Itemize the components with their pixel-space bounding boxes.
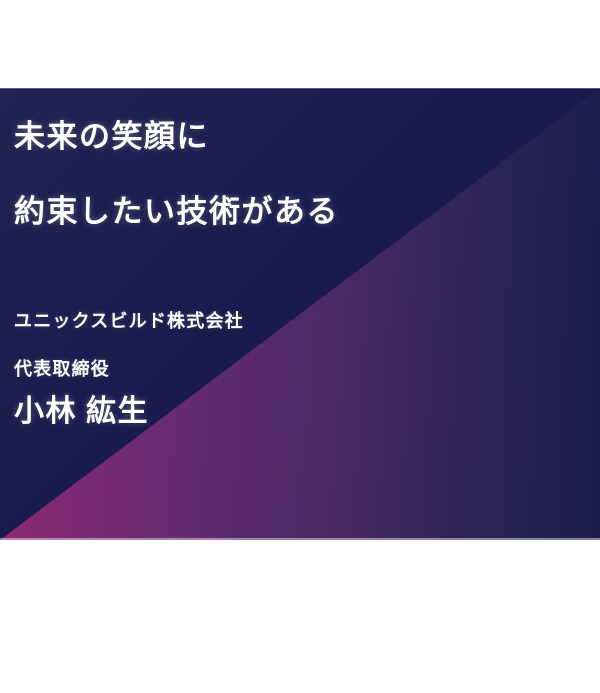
person-name: 小林 紘生 [14, 397, 149, 427]
hero-text-block: 未来の笑顔に 約束したい技術がある ユニックスビルド株式会社 代表取締役 小林 … [0, 88, 600, 540]
headline-line-2: 約束したい技術がある [14, 196, 339, 227]
job-title: 代表取締役 [14, 360, 110, 378]
page-margin-bottom [0, 540, 600, 693]
organization-name: ユニックスビルド株式会社 [14, 312, 244, 330]
slide-canvas: 未来の笑顔に 約束したい技術がある ユニックスビルド株式会社 代表取締役 小林 … [0, 0, 600, 693]
hero-banner: 未来の笑顔に 約束したい技術がある ユニックスビルド株式会社 代表取締役 小林 … [0, 88, 600, 540]
headline-line-1: 未来の笑顔に [14, 121, 209, 152]
page-margin-top [0, 0, 600, 88]
